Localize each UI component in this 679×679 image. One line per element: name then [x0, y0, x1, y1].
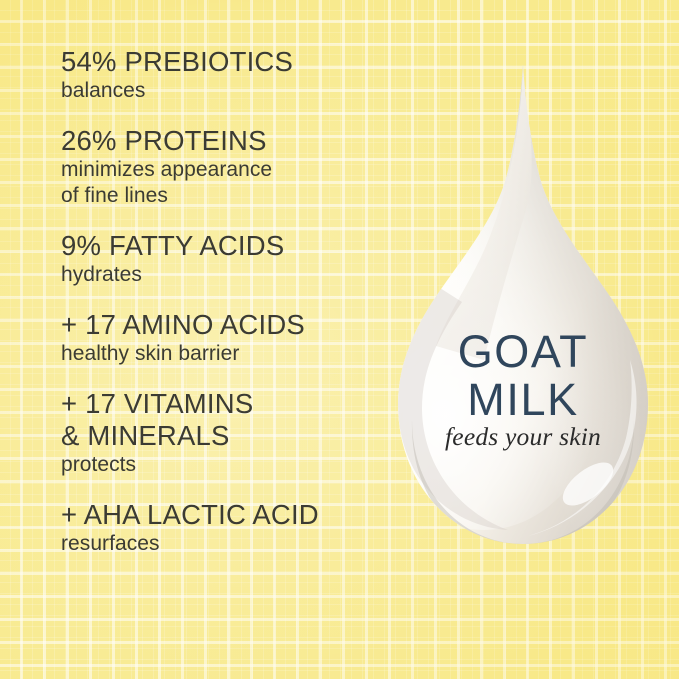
benefit-title: 26% PROTEINS — [61, 125, 381, 157]
benefit-subtitle: protects — [61, 452, 381, 478]
benefit-subtitle: healthy skin barrier — [61, 341, 381, 367]
benefit-item-aha-lactic-acid: + AHA LACTIC ACID resurfaces — [61, 499, 381, 557]
benefit-title: + 17 AMINO ACIDS — [61, 309, 381, 341]
milk-droplet-graphic: GOAT MILK feeds your skin — [392, 60, 654, 550]
benefit-title: + 17 VITAMINS & MINERALS — [61, 388, 381, 452]
benefits-list: 54% PREBIOTICS balances 26% PROTEINS min… — [61, 46, 381, 557]
benefit-item-vitamins-minerals: + 17 VITAMINS & MINERALS protects — [61, 388, 381, 478]
benefit-item-fatty-acids: 9% FATTY ACIDS hydrates — [61, 230, 381, 288]
goat-milk-infographic: GOAT MILK feeds your skin 54% PREBIOTICS… — [0, 0, 679, 679]
benefit-item-proteins: 26% PROTEINS minimizes appearance of fin… — [61, 125, 381, 209]
benefit-title: 54% PREBIOTICS — [61, 46, 381, 78]
benefit-subtitle: resurfaces — [61, 531, 381, 557]
benefit-item-amino-acids: + 17 AMINO ACIDS healthy skin barrier — [61, 309, 381, 367]
benefit-title: 9% FATTY ACIDS — [61, 230, 381, 262]
benefit-item-prebiotics: 54% PREBIOTICS balances — [61, 46, 381, 104]
benefit-subtitle: balances — [61, 78, 381, 104]
benefit-subtitle: hydrates — [61, 262, 381, 288]
benefit-subtitle: minimizes appearance of fine lines — [61, 157, 381, 209]
benefit-title: + AHA LACTIC ACID — [61, 499, 381, 531]
